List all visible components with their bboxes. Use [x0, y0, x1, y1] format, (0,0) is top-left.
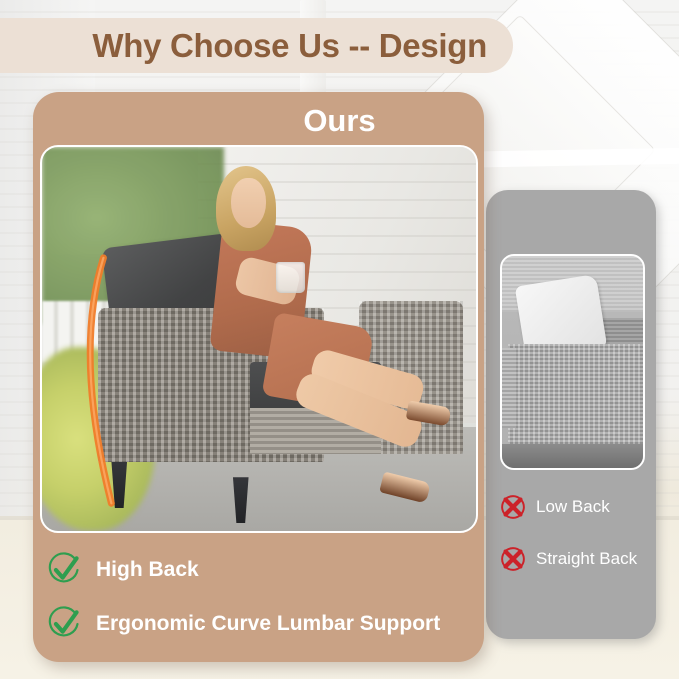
infographic-canvas: Others Low Back Straight Back Ours	[0, 0, 679, 679]
cross-circle-icon	[498, 544, 528, 574]
cross-circle-icon	[498, 492, 528, 522]
model-drinking-glass	[276, 262, 304, 293]
check-circle-icon	[46, 606, 82, 642]
others-feature-row: Low Back	[498, 492, 610, 522]
ours-feature-label: Ergonomic Curve Lumbar Support	[96, 612, 440, 636]
page-title: Why Choose Us -- Design	[92, 27, 487, 65]
others-feature-label: Low Back	[536, 497, 610, 517]
ours-product-photo	[40, 145, 478, 533]
others-chair-arm	[502, 348, 516, 428]
others-chair-body	[508, 344, 643, 446]
ours-feature-row: Ergonomic Curve Lumbar Support	[46, 606, 440, 642]
others-product-photo	[500, 254, 645, 470]
ours-heading: Ours	[0, 103, 679, 139]
others-feature-row: Straight Back	[498, 544, 637, 574]
ours-feature-row: High Back	[46, 552, 199, 588]
others-photo-floor	[502, 444, 643, 468]
others-feature-label: Straight Back	[536, 549, 637, 569]
ours-feature-label: High Back	[96, 558, 199, 582]
title-banner: Why Choose Us -- Design	[0, 18, 513, 73]
model-face	[231, 178, 266, 228]
check-circle-icon	[46, 552, 82, 588]
